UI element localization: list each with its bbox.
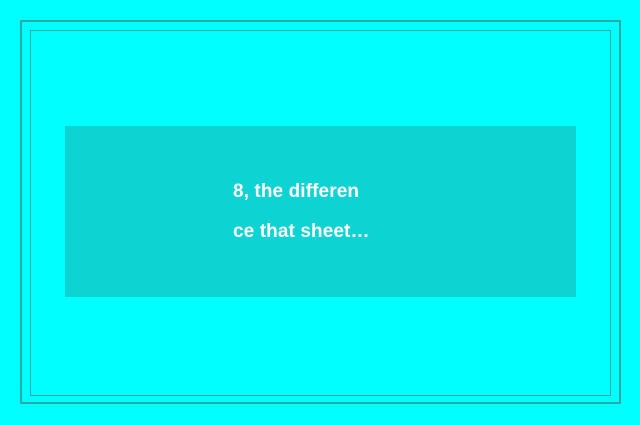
excerpt-line-1: 8, the differen (233, 172, 359, 212)
excerpt-line-2: ce that sheet… (233, 212, 370, 252)
text-content-panel: 8, the differen ce that sheet… (65, 126, 576, 297)
screenshot-canvas: 8, the differen ce that sheet… (0, 0, 640, 425)
